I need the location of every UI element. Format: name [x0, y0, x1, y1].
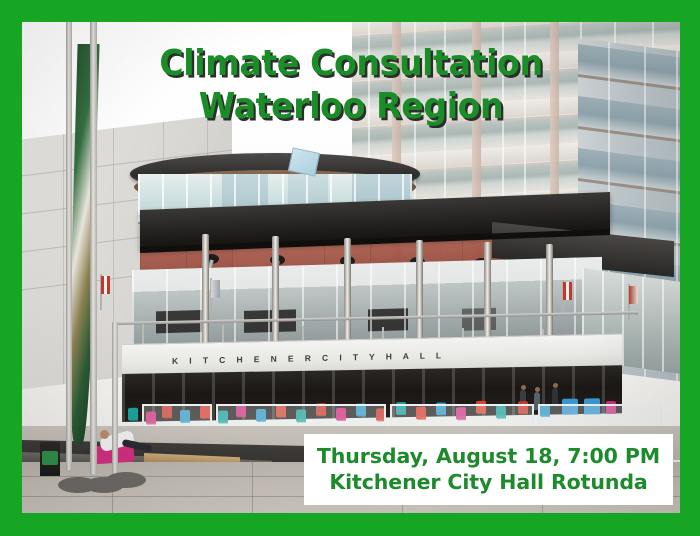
event-poster: K I T C H E N E R C I T Y H A L L: [0, 0, 700, 536]
event-location: Kitchener City Hall Rotunda: [314, 469, 663, 495]
flag: [629, 286, 638, 304]
column: [202, 234, 209, 352]
flagpole-base: [106, 472, 146, 488]
event-datetime: Thursday, August 18, 7:00 PM: [314, 443, 663, 469]
flag: [211, 280, 220, 298]
photo-background: K I T C H E N E R C I T Y H A L L: [22, 22, 680, 513]
recycling-label: [42, 451, 58, 465]
title-line-1: Climate Consultation: [48, 42, 653, 85]
title-line-2: Waterloo Region: [48, 85, 653, 128]
canada-flag: [101, 276, 110, 294]
flagpole: [112, 322, 118, 476]
event-details-box: Thursday, August 18, 7:00 PM Kitchener C…: [304, 434, 673, 505]
column: [272, 236, 279, 354]
poster-title: Climate Consultation Waterloo Region: [48, 42, 653, 128]
flag: [563, 282, 572, 300]
person-head: [100, 430, 109, 439]
